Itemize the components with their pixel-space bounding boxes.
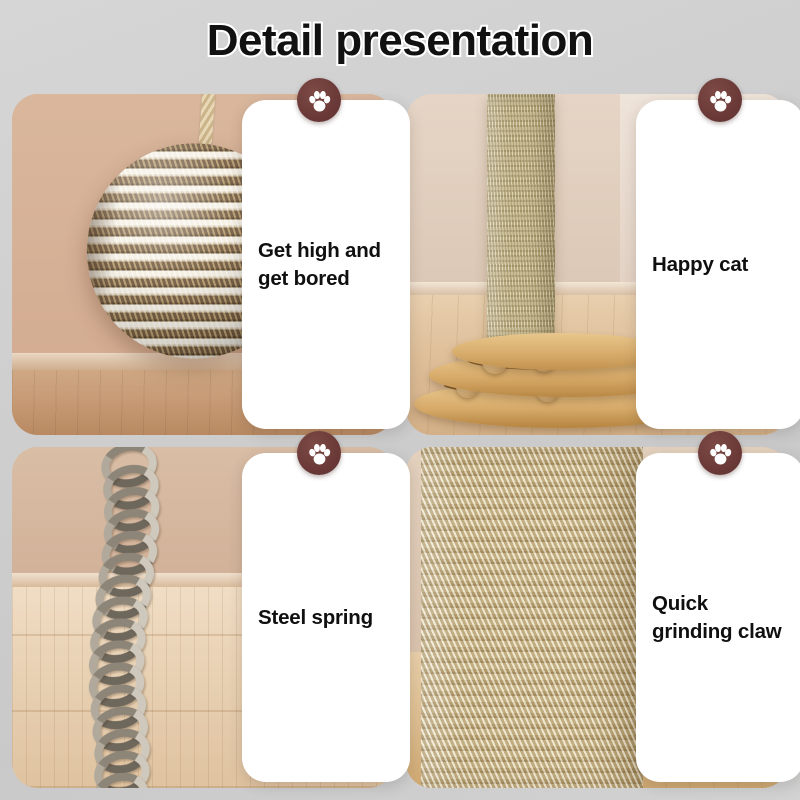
paw-icon xyxy=(698,78,742,122)
feature-label-text: Steel spring xyxy=(242,604,387,631)
feature-label-text: Quick grinding claw xyxy=(636,590,800,645)
feature-panel-scratch-post[interactable]: Happy cat xyxy=(406,94,788,435)
paw-icon xyxy=(297,431,341,475)
wound-rope-column xyxy=(421,447,643,788)
feature-label-text: Get high and get bored xyxy=(242,237,410,292)
feature-label-card[interactable]: Get high and get bored xyxy=(242,100,410,429)
paw-icon xyxy=(297,78,341,122)
paw-icon xyxy=(698,431,742,475)
feature-label-text: Happy cat xyxy=(636,251,762,278)
feature-label-card[interactable]: Steel spring xyxy=(242,453,410,782)
feature-label-card[interactable]: Quick grinding claw xyxy=(636,453,800,782)
turntable-top-tier xyxy=(452,333,666,371)
product-detail-page: Detail presentation Get high and get bor… xyxy=(0,0,800,800)
feature-panel-rope-ball[interactable]: Get high and get bored xyxy=(12,94,394,435)
feature-panel-rope-closeup[interactable]: Quick grinding claw xyxy=(406,447,788,788)
feature-label-card[interactable]: Happy cat xyxy=(636,100,800,429)
feature-panel-grid: Get high and get bored xyxy=(12,94,788,788)
page-title: Detail presentation xyxy=(0,16,800,66)
sisal-post-column xyxy=(487,94,555,354)
feature-panel-steel-spring[interactable]: Steel spring xyxy=(12,447,394,788)
